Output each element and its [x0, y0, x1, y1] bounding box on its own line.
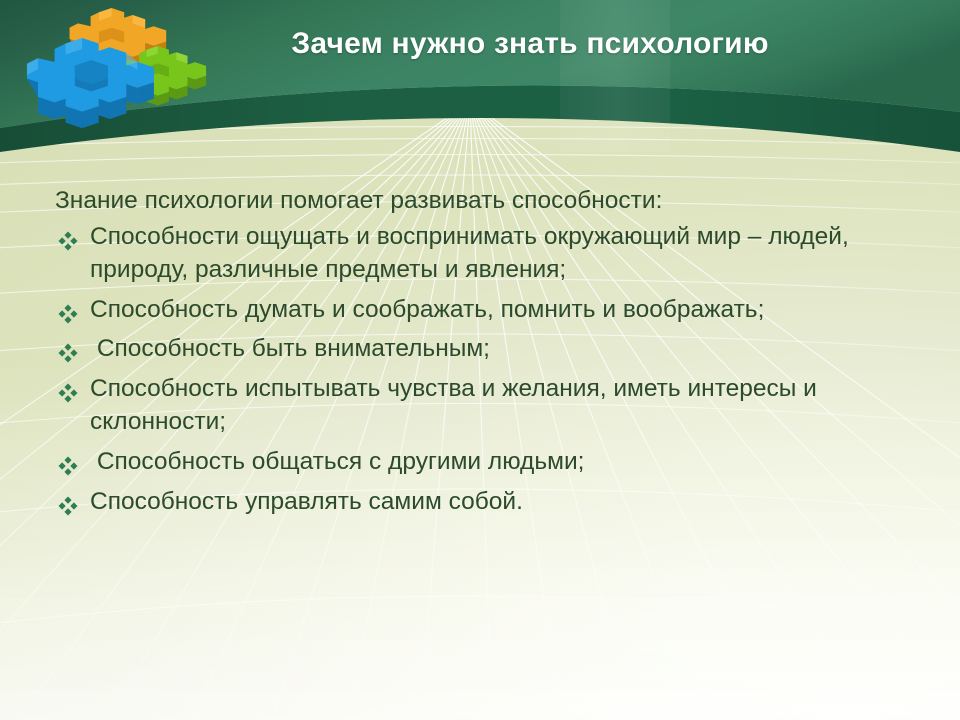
- list-item-label: Способность быть внимательным;: [90, 333, 900, 366]
- list-item-label: Способности ощущать и воспринимать окруж…: [90, 221, 900, 287]
- list-item: Способность быть внимательным;: [0, 333, 960, 366]
- puzzle-pieces-graphic: [12, 2, 212, 162]
- list-item: Способность общаться с другими людьми;: [0, 446, 960, 479]
- list-item: Способности ощущать и воспринимать окруж…: [0, 221, 960, 287]
- list-item: Способность думать и соображать, помнить…: [0, 294, 960, 327]
- four-diamond-bullet-icon: [58, 453, 78, 473]
- intro-text: Знание психологии помогает развивать спо…: [0, 186, 960, 217]
- header-light-streak: [557, 0, 677, 152]
- list-item-label: Способность думать и соображать, помнить…: [90, 294, 900, 327]
- list-item: Способность управлять самим собой.: [0, 486, 960, 519]
- four-diamond-bullet-icon: [58, 380, 78, 400]
- abilities-list: Способности ощущать и воспринимать окруж…: [0, 221, 960, 519]
- list-item: Способность испытывать чувства и желания…: [0, 373, 960, 439]
- four-diamond-bullet-icon: [58, 493, 78, 513]
- four-diamond-bullet-icon: [58, 340, 78, 360]
- list-item-label: Способность испытывать чувства и желания…: [90, 373, 900, 439]
- list-item-label: Способность управлять самим собой.: [90, 486, 900, 519]
- list-item-label: Способность общаться с другими людьми;: [90, 446, 900, 479]
- slide: Знание психологии помогает развивать спо…: [0, 0, 960, 720]
- four-diamond-bullet-icon: [58, 228, 78, 248]
- slide-content: Знание психологии помогает развивать спо…: [0, 186, 960, 525]
- four-diamond-bullet-icon: [58, 301, 78, 321]
